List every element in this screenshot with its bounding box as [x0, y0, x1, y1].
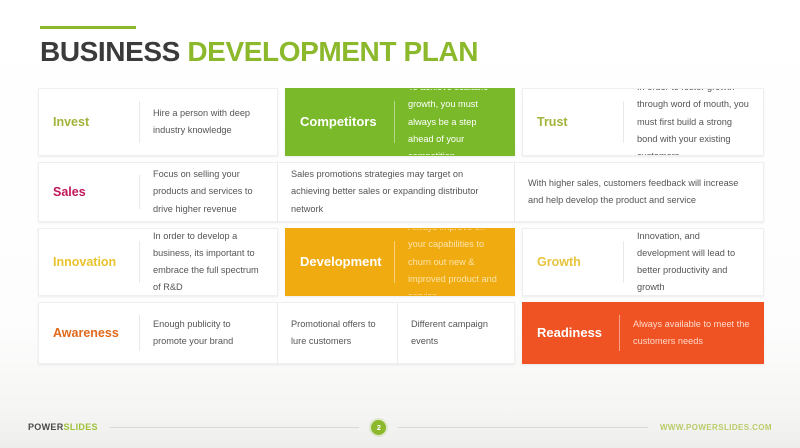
card-promotional-offers[interactable]: Promotional offers to lure customers [278, 302, 398, 364]
card-development[interactable]: Development Always improve on your capab… [285, 228, 515, 296]
card-invest[interactable]: Invest Hire a person with deep industry … [38, 88, 278, 156]
spacer [515, 228, 522, 296]
title-part-development-plan: DEVELOPMENT PLAN [187, 36, 478, 67]
card-sales[interactable]: Sales Focus on selling your products and… [38, 162, 278, 222]
card-campaign-events[interactable]: Different campaign events [398, 302, 515, 364]
slide-header: BUSINESS DEVELOPMENT PLAN [40, 26, 478, 66]
spacer [515, 302, 522, 364]
logo-part-power: POWER [28, 422, 64, 432]
footer-rule-left [110, 427, 360, 428]
card-text-promotional-offers: Promotional offers to lure customers [278, 316, 397, 350]
page-title: BUSINESS DEVELOPMENT PLAN [40, 38, 478, 66]
card-label-sales: Sales [39, 185, 139, 200]
matrix-row-1: Invest Hire a person with deep industry … [38, 88, 764, 156]
card-label-awareness: Awareness [39, 326, 139, 341]
card-label-invest: Invest [39, 115, 139, 130]
card-text-readiness: Always available to meet the customers n… [620, 316, 763, 350]
title-part-business: BUSINESS [40, 36, 180, 67]
card-innovation[interactable]: Innovation In order to develop a busines… [38, 228, 278, 296]
card-text-sales-feedback: With higher sales, customers feedback wi… [515, 175, 763, 209]
spacer [278, 88, 285, 156]
card-text-invest: Hire a person with deep industry knowled… [140, 105, 277, 139]
slide-footer: POWERSLIDES 2 WWW.POWERSLIDES.COM [0, 406, 800, 448]
matrix-row-4: Awareness Enough publicity to promote yo… [38, 302, 764, 364]
card-label-trust: Trust [523, 115, 623, 130]
card-text-trust: In order to foster growth through word o… [624, 88, 763, 156]
card-readiness[interactable]: Readiness Always available to meet the c… [522, 302, 764, 364]
card-text-development: Always improve on your capabilities to c… [395, 228, 514, 296]
footer-website-url[interactable]: WWW.POWERSLIDES.COM [660, 423, 772, 432]
card-label-competitors: Competitors [286, 114, 394, 130]
spacer [515, 88, 522, 156]
slide: BUSINESS DEVELOPMENT PLAN Invest Hire a … [0, 0, 800, 448]
card-text-campaign-events: Different campaign events [398, 316, 514, 350]
card-awareness[interactable]: Awareness Enough publicity to promote yo… [38, 302, 278, 364]
card-growth[interactable]: Growth Innovation, and development will … [522, 228, 764, 296]
logo-part-slides: SLIDES [64, 422, 98, 432]
card-competitors[interactable]: Competitors To achieve scalable growth, … [285, 88, 515, 156]
card-text-growth: Innovation, and development will lead to… [624, 228, 763, 296]
card-label-innovation: Innovation [39, 255, 139, 270]
card-text-awareness: Enough publicity to promote your brand [140, 316, 277, 350]
card-label-development: Development [286, 254, 394, 270]
footer-rule-right [398, 427, 648, 428]
card-text-competitors: To achieve scalable growth, you must alw… [395, 88, 514, 156]
card-sales-feedback[interactable]: With higher sales, customers feedback wi… [515, 162, 764, 222]
title-accent-rule [40, 26, 136, 29]
card-text-sales-promotions: Sales promotions strategies may target o… [278, 166, 514, 217]
card-label-readiness: Readiness [523, 325, 619, 341]
content-matrix: Invest Hire a person with deep industry … [38, 88, 764, 370]
matrix-row-2: Sales Focus on selling your products and… [38, 162, 764, 222]
card-trust[interactable]: Trust In order to foster growth through … [522, 88, 764, 156]
card-label-growth: Growth [523, 255, 623, 270]
spacer [278, 228, 285, 296]
powerslides-logo: POWERSLIDES [28, 422, 98, 432]
card-sales-promotions[interactable]: Sales promotions strategies may target o… [278, 162, 515, 222]
matrix-row-3: Innovation In order to develop a busines… [38, 228, 764, 296]
card-text-sales: Focus on selling your products and servi… [140, 166, 277, 217]
card-text-innovation: In order to develop a business, its impo… [140, 228, 277, 296]
page-number-badge: 2 [371, 420, 386, 435]
